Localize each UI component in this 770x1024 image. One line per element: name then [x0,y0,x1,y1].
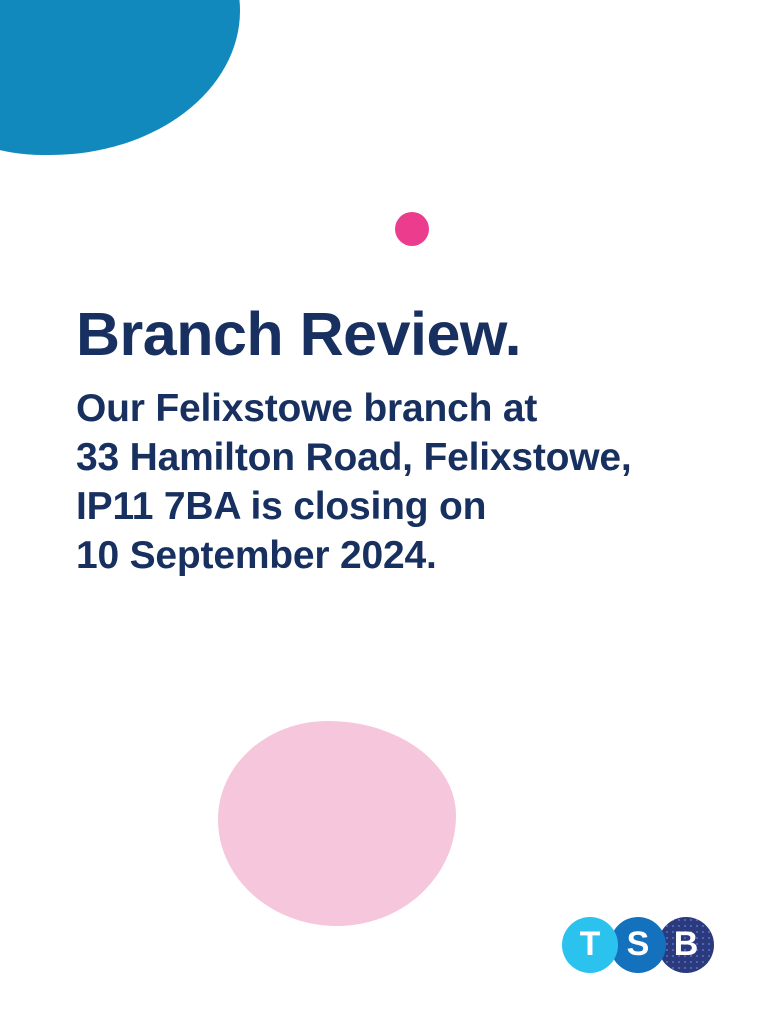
decorative-pink-blob [218,721,456,926]
tsb-logo-circle-s: S [610,917,666,973]
tsb-logo: T S B [562,917,714,973]
decorative-blue-blob [0,0,240,155]
tsb-logo-letter-b: B [674,927,699,961]
closure-notice-line-2: 33 Hamilton Road, Felixstowe, [76,433,716,482]
page-title: Branch Review. [76,300,716,368]
decorative-pink-dot [395,212,429,246]
tsb-logo-circle-t: T [562,917,618,973]
tsb-logo-circle-b: B [658,917,714,973]
tsb-logo-letter-s: S [627,927,650,961]
closure-notice-line-1: Our Felixstowe branch at [76,384,716,433]
closure-notice-line-4: 10 September 2024. [76,531,716,580]
branch-review-poster: Branch Review. Our Felixstowe branch at … [0,0,770,1024]
closure-notice: Our Felixstowe branch at 33 Hamilton Roa… [76,368,716,580]
tsb-logo-letter-t: T [580,927,601,961]
closure-notice-line-3: IP11 7BA is closing on [76,482,716,531]
poster-text-block: Branch Review. Our Felixstowe branch at … [76,300,716,580]
